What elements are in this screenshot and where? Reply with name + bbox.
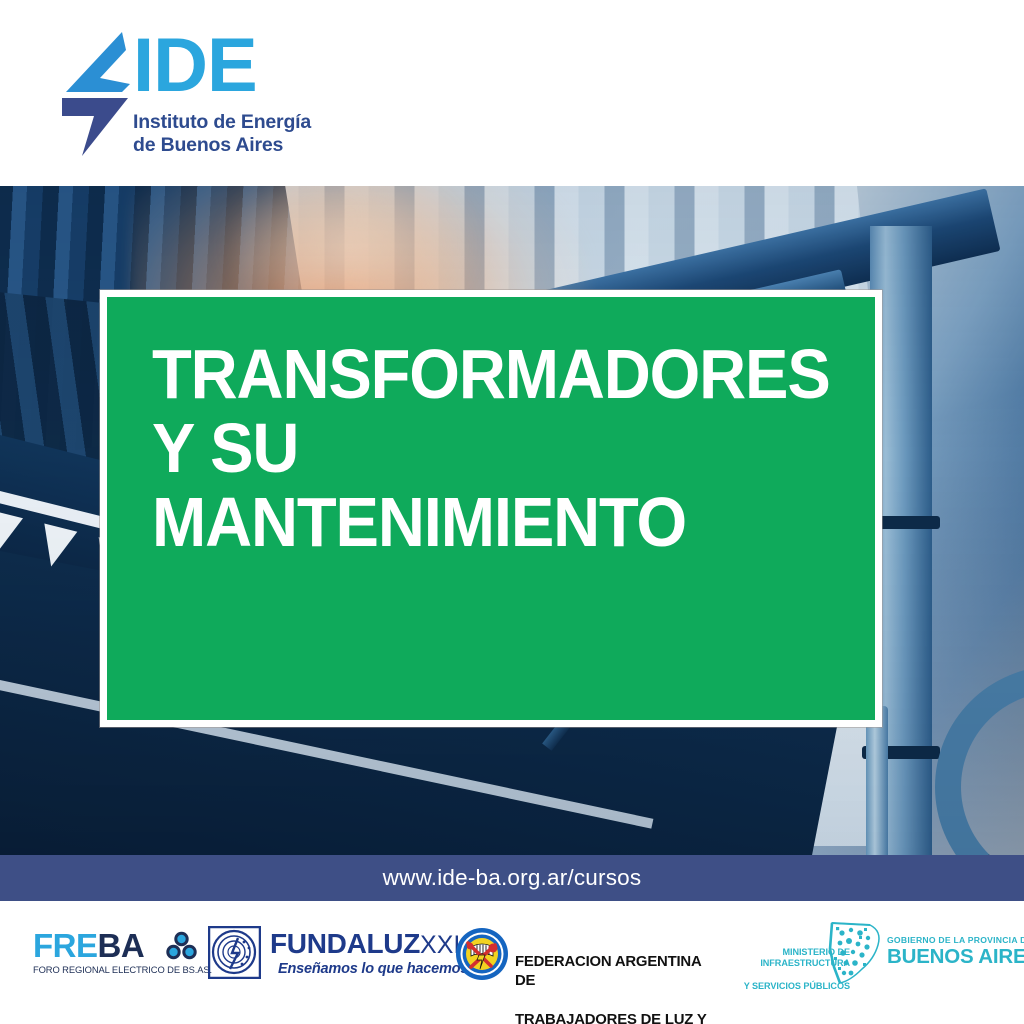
ide-logo[interactable]: IDE Instituto de Energía de Buenos Aires [60,28,360,160]
ide-subtitle-line2: de Buenos Aires [133,134,311,157]
logo-gobierno-buenos-aires[interactable]: MINISTERIO DE INFRAESTRUCTURA Y SERVICIO… [715,923,1005,985]
sponsor-footer: FREBA FORO REGIONAL ELECTRICO DE BS.AS. [0,901,1024,1024]
freba-name-part1: FRE [33,927,98,964]
logo-fatlyf[interactable]: FEDERACION ARGENTINA DE TRABAJADORES DE … [455,925,715,983]
fatlyf-line2: TRABAJADORES DE LUZ Y FUERZA [515,1010,711,1024]
freba-name-part2: BA [98,927,145,964]
ide-subtitle: Instituto de Energía de Buenos Aires [133,111,311,157]
ide-acronym: IDE [133,28,311,104]
header: IDE Instituto de Energía de Buenos Aires [0,0,1024,186]
fundaluz-tagline: Enseñamos lo que hacemos [278,961,468,977]
circular-seal-icon [208,926,261,979]
three-circles-icon [166,931,197,960]
buenos-aires-province-map-icon [820,919,894,987]
url-bar[interactable]: www.ide-ba.org.ar/cursos [0,855,1024,901]
gobierno-title: BUENOS AIRES [887,946,1024,968]
fundaluz-name: FUNDALUZ [270,928,420,959]
freba-tagline: FORO REGIONAL ELECTRICO DE BS.AS. [33,965,208,975]
fundaluz-wordmark: FUNDALUZXXI [270,929,460,960]
gobierno-wordmark: GOBIERNO DE LA PROVINCIA DE BUENOS AIRES [887,935,1024,968]
ide-subtitle-line1: Instituto de Energía [133,111,311,134]
course-title: TRANSFORMADORES Y SU MANTENIMIENTO [152,337,822,559]
logo-fundaluz[interactable]: FUNDALUZXXI Enseñamos lo que hacemos [208,926,436,982]
fatlyf-name: FEDERACION ARGENTINA DE TRABAJADORES DE … [515,932,711,1024]
fatlyf-line1: FEDERACION ARGENTINA DE [515,952,711,991]
poster-canvas: IDE Instituto de Energía de Buenos Aires [0,0,1024,1024]
gear-emblem-icon [455,927,509,981]
lightning-bolt-icon [60,30,130,158]
course-title-card: TRANSFORMADORES Y SU MANTENIMIENTO [100,290,882,727]
website-url[interactable]: www.ide-ba.org.ar/cursos [383,865,642,891]
ide-logo-text: IDE Instituto de Energía de Buenos Aires [133,28,311,157]
logo-freba[interactable]: FREBA FORO REGIONAL ELECTRICO DE BS.AS. [33,929,205,977]
